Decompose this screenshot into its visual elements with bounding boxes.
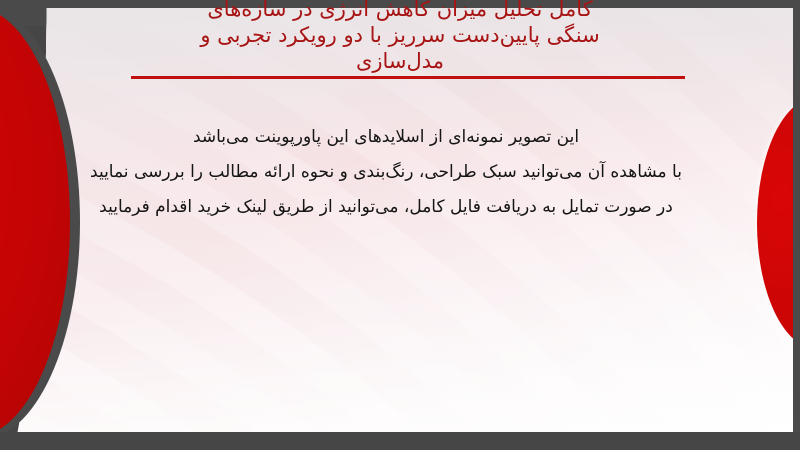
slide-canvas: کامل تحلیل میزان کاهش انرژی در سازه‌های … <box>0 0 800 450</box>
slide-body-line-1: این تصویر نمونه‌ای از اسلایدهای این پاور… <box>0 120 772 155</box>
slide-body-line-3: در صورت تمایل به دریافت فایل کامل، می‌تو… <box>0 190 772 225</box>
slide-frame-right <box>793 0 800 450</box>
slide-frame-bottom <box>0 432 800 450</box>
slide-body-line-2: با مشاهده آن می‌توانید سبک طراحی، رنگ‌بن… <box>0 155 772 190</box>
slide-body: این تصویر نمونه‌ای از اسلایدهای این پاور… <box>0 120 772 225</box>
title-separator-rule <box>131 76 685 79</box>
